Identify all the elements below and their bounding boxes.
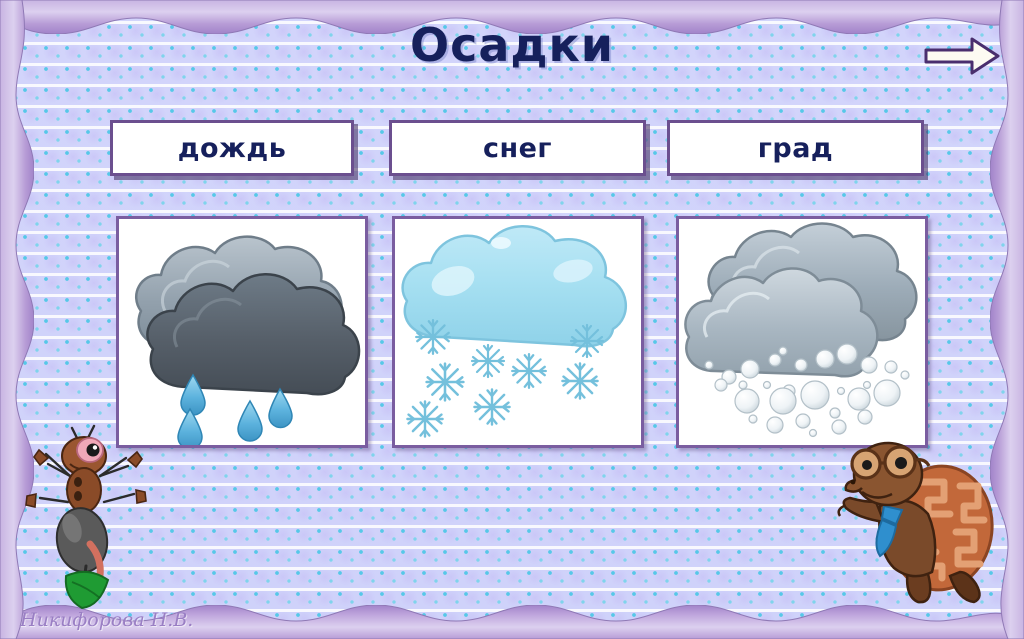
arrow-right-icon[interactable] [922,36,1002,76]
word-card-rain[interactable]: дождь [110,120,354,176]
word-card-label: дождь [178,133,287,164]
rain-picture[interactable] [116,216,368,448]
word-card-label: снег [483,133,552,164]
word-card-label: град [758,133,833,164]
word-card-hail[interactable]: град [667,120,924,176]
word-card-snow[interactable]: снег [389,120,646,176]
turtle-character [822,436,1008,612]
rain-cloud-icon [119,219,365,445]
snow-picture[interactable] [392,216,644,448]
author-watermark: Никифорова Н.В. [20,609,193,631]
snow-cloud-icon [395,219,641,445]
hail-picture[interactable] [676,216,928,448]
ant-character [24,424,152,614]
hail-cloud-icon [679,219,925,445]
page-title: Осадки [0,18,1024,72]
slide-stage: Осадки дождь снег град [0,0,1024,639]
